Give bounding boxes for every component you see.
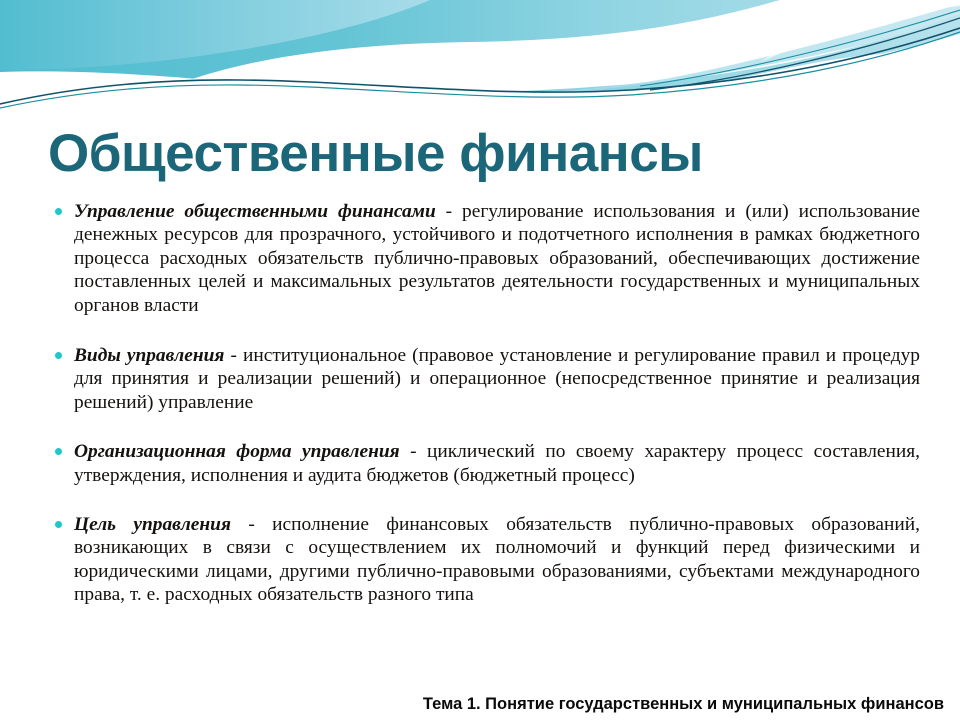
bullet-dot-icon (55, 521, 62, 528)
list-item-lead: Организационная форма управления (74, 441, 400, 462)
list-item-lead: Цель управления (74, 514, 231, 535)
list-item-lead: Виды управления (74, 345, 224, 366)
bullet-list: Управление общественными финансами - рег… (48, 200, 920, 607)
bullet-dot-icon (55, 208, 62, 215)
list-item: Виды управления - институциональное (пра… (48, 344, 920, 414)
page-title: Общественные финансы (48, 124, 928, 184)
list-item: Организационная форма управления - цикли… (48, 440, 920, 487)
list-item-lead: Управление общественными финансами (74, 201, 436, 222)
bullet-dot-icon (55, 352, 62, 359)
presentation-slide: Общественные финансы Управление обществе… (0, 0, 960, 720)
banner-svg (0, 0, 960, 112)
bullet-dot-icon (55, 448, 62, 455)
list-item: Управление общественными финансами - рег… (48, 200, 920, 317)
flow-wave-banner (0, 0, 960, 112)
list-item: Цель управления - исполнение финансовых … (48, 513, 920, 607)
slide-footer: Тема 1. Понятие государственных и муници… (423, 694, 944, 714)
